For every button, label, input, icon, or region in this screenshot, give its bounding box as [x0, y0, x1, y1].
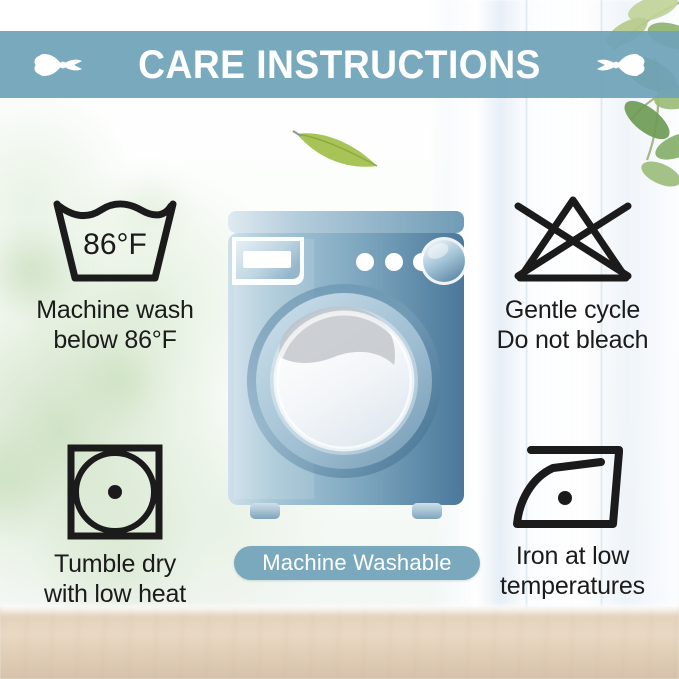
care-symbol-do-not-bleach: Gentle cycle Do not bleach [470, 192, 675, 355]
caption-line-2: with low heat [44, 580, 186, 608]
badge-label: Machine Washable [262, 550, 451, 576]
care-symbol-tumble-dry: Tumble dry with low heat [10, 442, 220, 609]
wash-tub-icon: 86°F [45, 192, 185, 288]
care-symbol-iron-low: Iron at low temperatures [470, 442, 675, 601]
washing-machine-illustration [222, 205, 470, 535]
caption-line-2: below 86°F [53, 326, 176, 354]
tumble-dry-low-icon [63, 442, 167, 542]
header-banner: CARE INSTRUCTIONS [0, 31, 679, 98]
fleur-de-lis-icon [32, 43, 92, 87]
wood-grain-texture [0, 607, 679, 679]
washer-foot [412, 503, 442, 519]
caption-line-1: Tumble dry [54, 550, 176, 578]
washer-indicator-dot [356, 253, 374, 271]
caption-line-2: temperatures [500, 572, 645, 600]
care-symbol-caption: Machine wash below 86°F [36, 296, 193, 355]
drawer-slot [243, 251, 291, 268]
machine-washable-badge: Machine Washable [234, 546, 480, 580]
caption-line-1: Machine wash [36, 296, 193, 324]
care-symbol-machine-wash: 86°F Machine wash below 86°F [10, 192, 220, 355]
washer-lid [228, 211, 464, 233]
caption-line-1: Iron at low [516, 542, 629, 570]
care-symbol-caption: Iron at low temperatures [500, 542, 645, 601]
washer-foot [250, 503, 280, 519]
triangle-crossed-bleach-icon [500, 192, 646, 288]
care-instructions-infographic: CARE INSTRUCTIONS 86°F Machine wash belo… [0, 0, 679, 679]
wash-temperature-value: 86°F [83, 228, 147, 261]
iron-low-heat-icon [509, 442, 637, 534]
caption-line-2: Do not bleach [497, 326, 649, 354]
care-symbol-caption: Tumble dry with low heat [44, 550, 186, 609]
caption-line-1: Gentle cycle [505, 296, 640, 324]
care-symbol-caption: Gentle cycle Do not bleach [497, 296, 649, 355]
fleur-de-lis-icon [587, 43, 647, 87]
leaf-icon [291, 120, 383, 172]
page-title: CARE INSTRUCTIONS [138, 45, 541, 85]
washer-indicator-dot [385, 253, 403, 271]
